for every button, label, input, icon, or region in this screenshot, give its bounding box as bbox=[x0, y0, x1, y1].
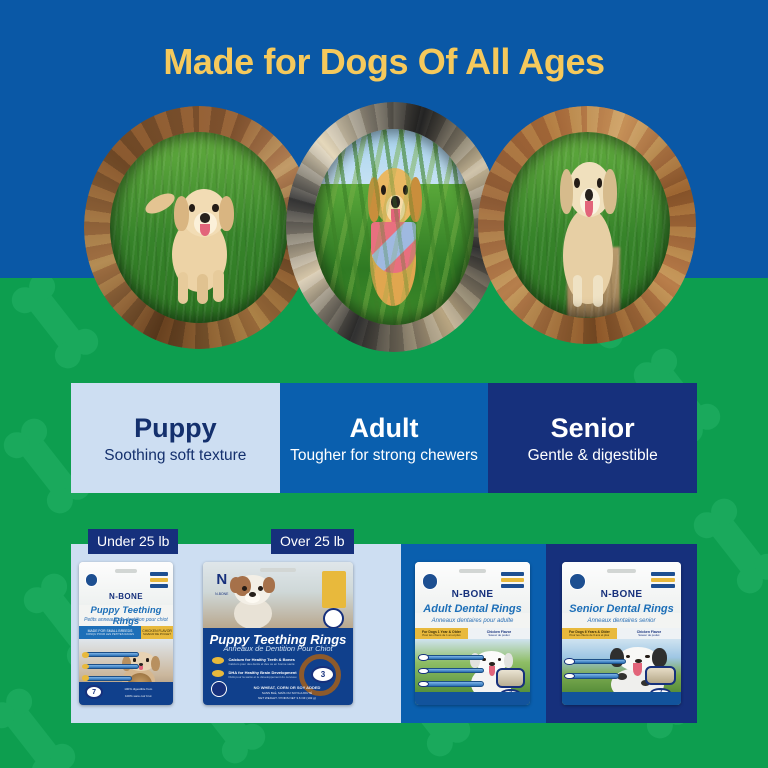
product-inset-photo bbox=[496, 668, 526, 688]
age-tier-cards: Puppy Soothing soft texture Adult Toughe… bbox=[71, 383, 697, 493]
tooth-seal-icon bbox=[323, 608, 344, 629]
package-brand: N-BONE bbox=[415, 589, 530, 600]
tier-card-puppy[interactable]: Puppy Soothing soft texture bbox=[71, 383, 280, 493]
package-subtitle-fr: Anneaux de Dentition Pour Chiot bbox=[203, 644, 353, 653]
usda-seal-icon bbox=[422, 573, 438, 589]
product-panel-puppy: N-BONE Puppy Teething Rings Petits annea… bbox=[71, 544, 401, 723]
package-tag-left-fr: Pour les chiens de 1 an et plus bbox=[422, 634, 460, 637]
package-tag-left-fr: CONÇU POUR LES PETITES RACES bbox=[86, 633, 134, 636]
flavor-flag-icon bbox=[322, 571, 346, 608]
package-brand: N-BONE bbox=[79, 592, 173, 601]
tier-card-adult[interactable]: Adult Tougher for strong chewers bbox=[280, 383, 489, 493]
bone-pattern-icon bbox=[704, 509, 768, 583]
usda-seal-icon bbox=[85, 573, 98, 586]
package-subtitle-fr: Anneaux dentaires pour adulte bbox=[415, 618, 530, 624]
package-puppy-large[interactable]: N N-BONE Puppy Teething Rings bbox=[203, 562, 353, 705]
tier-card-senior[interactable]: Senior Gentle & digestible bbox=[488, 383, 697, 493]
page-title: Made for Dogs Of All Ages bbox=[0, 40, 768, 84]
package-tag-left-fr: Pour les chiens de 6 ans et plus bbox=[570, 634, 610, 637]
package-puppy-small[interactable]: N-BONE Puppy Teething Rings Petits annea… bbox=[79, 562, 173, 705]
ring-photos bbox=[0, 96, 768, 364]
package-adult-dental[interactable]: N-BONE Adult Dental Rings Anneaux dentai… bbox=[415, 562, 530, 705]
package-subtitle-fr: Anneaux dentaires senior bbox=[562, 618, 681, 624]
package-bullet-1-fr: Calcium pour des dents et des os en bonn… bbox=[229, 662, 307, 666]
package-footer: 100% digestible from bbox=[107, 687, 169, 691]
tier-subtitle-puppy: Soothing soft texture bbox=[104, 446, 246, 465]
product-strip: N-BONE Puppy Teething Rings Petits annea… bbox=[71, 544, 697, 723]
tier-title-adult: Adult bbox=[350, 412, 419, 444]
package-footer-fr: 100% sans cuir brut bbox=[107, 694, 169, 698]
badge-over-25lb: Over 25 lb bbox=[271, 529, 354, 554]
tier-title-senior: Senior bbox=[551, 412, 635, 444]
tier-subtitle-senior: Gentle & digestible bbox=[528, 446, 658, 465]
bone-pattern-icon bbox=[0, 699, 65, 768]
package-title: Puppy Teething Rings bbox=[79, 605, 173, 627]
package-count: 3 bbox=[321, 670, 325, 679]
badge-under-25lb: Under 25 lb bbox=[88, 529, 178, 554]
promo-image: Made for Dogs Of All Ages bbox=[0, 0, 768, 768]
package-weight: NET WEIGHT / POIDS NET 3.6 OZ (102 g) bbox=[236, 696, 338, 700]
package-title: Senior Dental Rings bbox=[562, 603, 681, 615]
package-count-badge: 7 bbox=[85, 685, 104, 700]
package-tag-right-fr: Saveur de poulet bbox=[638, 634, 659, 637]
package-footer-fr: SANS BLÉ, MAÏS OU SOYA AJOUTÉ bbox=[236, 691, 338, 695]
product-panel-adult: N-BONE Adult Dental Rings Anneaux dentai… bbox=[401, 544, 546, 723]
usda-seal-icon bbox=[569, 573, 586, 590]
package-count: 7 bbox=[92, 689, 96, 696]
ring-adult bbox=[286, 102, 501, 352]
ring-puppy bbox=[84, 106, 314, 349]
package-bullet-2-fr: DHA pour la santé et le développement du… bbox=[229, 675, 307, 679]
package-title: Adult Dental Rings bbox=[415, 603, 530, 615]
package-subtitle-fr: Petits anneaux de dentition pour chiot bbox=[79, 617, 173, 623]
product-panel-senior: N-BONE Senior Dental Rings Anneaux denta… bbox=[546, 544, 697, 723]
package-brand: N-BONE bbox=[562, 589, 681, 600]
tier-subtitle-adult: Tougher for strong chewers bbox=[290, 446, 478, 465]
package-tag-right-fr: SAVEUR DE POULET bbox=[143, 633, 171, 636]
product-inset-photo bbox=[645, 666, 676, 686]
usda-seal-icon bbox=[211, 681, 228, 698]
package-senior-dental[interactable]: N-BONE Senior Dental Rings Anneaux denta… bbox=[562, 562, 681, 705]
tier-title-puppy: Puppy bbox=[134, 412, 217, 444]
package-tag-right-fr: Saveur de poulet bbox=[488, 634, 509, 637]
package-footer: NO WHEAT, CORN OR SOY ADDED bbox=[236, 686, 338, 690]
ring-senior bbox=[478, 106, 696, 344]
